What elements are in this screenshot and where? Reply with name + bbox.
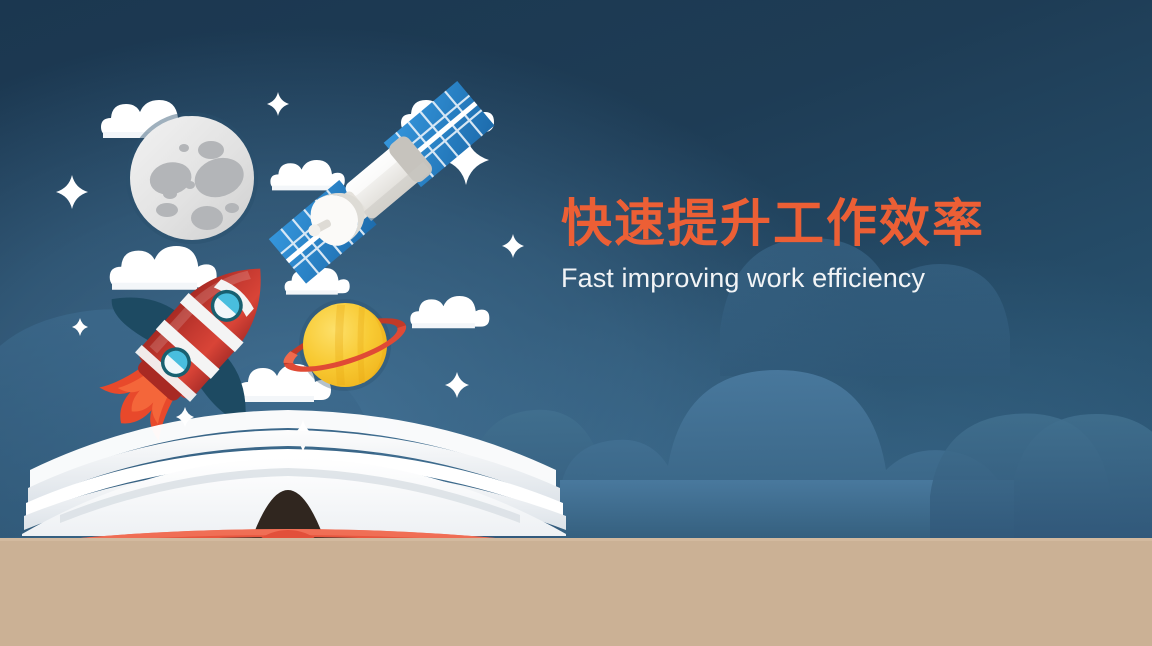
table-surface — [0, 538, 1152, 646]
title-block: 快速提升工作效率 Fast improving work efficiency — [561, 196, 1081, 294]
cloud-icon — [410, 296, 489, 328]
page-title: 快速提升工作效率 — [561, 196, 1081, 255]
star-icon — [502, 234, 524, 258]
cloud-icon — [110, 246, 217, 290]
presentation-slide: 快速提升工作效率 Fast improving work efficiency — [0, 0, 1152, 646]
star-icon — [445, 372, 469, 398]
moon-icon — [126, 112, 258, 244]
page-subtitle: Fast improving work efficiency — [561, 263, 1081, 294]
open-book-icon — [14, 410, 566, 553]
star-icon — [56, 175, 88, 209]
star-icon — [72, 318, 88, 336]
star-icon — [267, 92, 289, 116]
table-top-edge — [0, 538, 1152, 541]
